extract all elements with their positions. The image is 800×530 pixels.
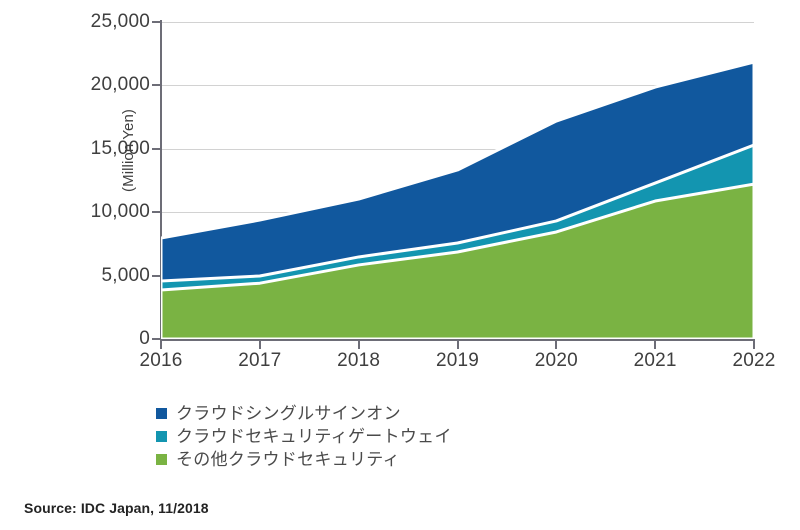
legend-label-cloud-sso: クラウドシングルサインオン (176, 404, 401, 424)
chart-legend: クラウドシングルサインオン クラウドセキュリティゲートウェイ その他クラウドセキ… (156, 402, 452, 471)
x-axis-tick-label: 2017 (215, 350, 305, 372)
y-axis-tick-label: 15,000 (0, 138, 150, 160)
x-axis-tick-label: 2022 (709, 350, 799, 372)
y-axis-tick-label: 25,000 (0, 11, 150, 33)
legend-swatch-blue (156, 408, 167, 419)
x-axis-tick (259, 341, 261, 349)
legend-label-cloud-security-gateway: クラウドセキュリティゲートウェイ (176, 427, 452, 447)
legend-item-cloud-security-gateway[interactable]: クラウドセキュリティゲートウェイ (156, 425, 452, 448)
x-axis-tick-label: 2018 (314, 350, 404, 372)
x-axis-tick-label: 2019 (413, 350, 503, 372)
legend-label-other-cloud-security: その他クラウドセキュリティ (176, 450, 400, 470)
legend-item-other-cloud-security[interactable]: その他クラウドセキュリティ (156, 448, 452, 471)
x-axis-tick-label: 2021 (610, 350, 700, 372)
x-axis-tick-label: 2016 (116, 350, 206, 372)
y-axis-tick-label: 0 (0, 328, 150, 350)
legend-item-cloud-sso[interactable]: クラウドシングルサインオン (156, 402, 452, 425)
y-axis-tick-label: 20,000 (0, 74, 150, 96)
source-note: Source: IDC Japan, 11/2018 (24, 500, 209, 516)
x-axis-tick (358, 341, 360, 349)
x-axis-tick (555, 341, 557, 349)
stacked-area-plot (161, 22, 754, 339)
y-axis-tick-label: 10,000 (0, 201, 150, 223)
x-axis-tick (753, 341, 755, 349)
legend-swatch-green (156, 454, 167, 465)
x-axis-tick (457, 341, 459, 349)
x-axis-tick (160, 341, 162, 349)
chart-figure: (Million Yen) 05,00010,00015,00020,00025… (0, 0, 800, 530)
x-axis-tick-label: 2020 (511, 350, 601, 372)
legend-swatch-cyan (156, 431, 167, 442)
x-axis-tick (654, 341, 656, 349)
y-axis-tick-label: 5,000 (0, 265, 150, 287)
